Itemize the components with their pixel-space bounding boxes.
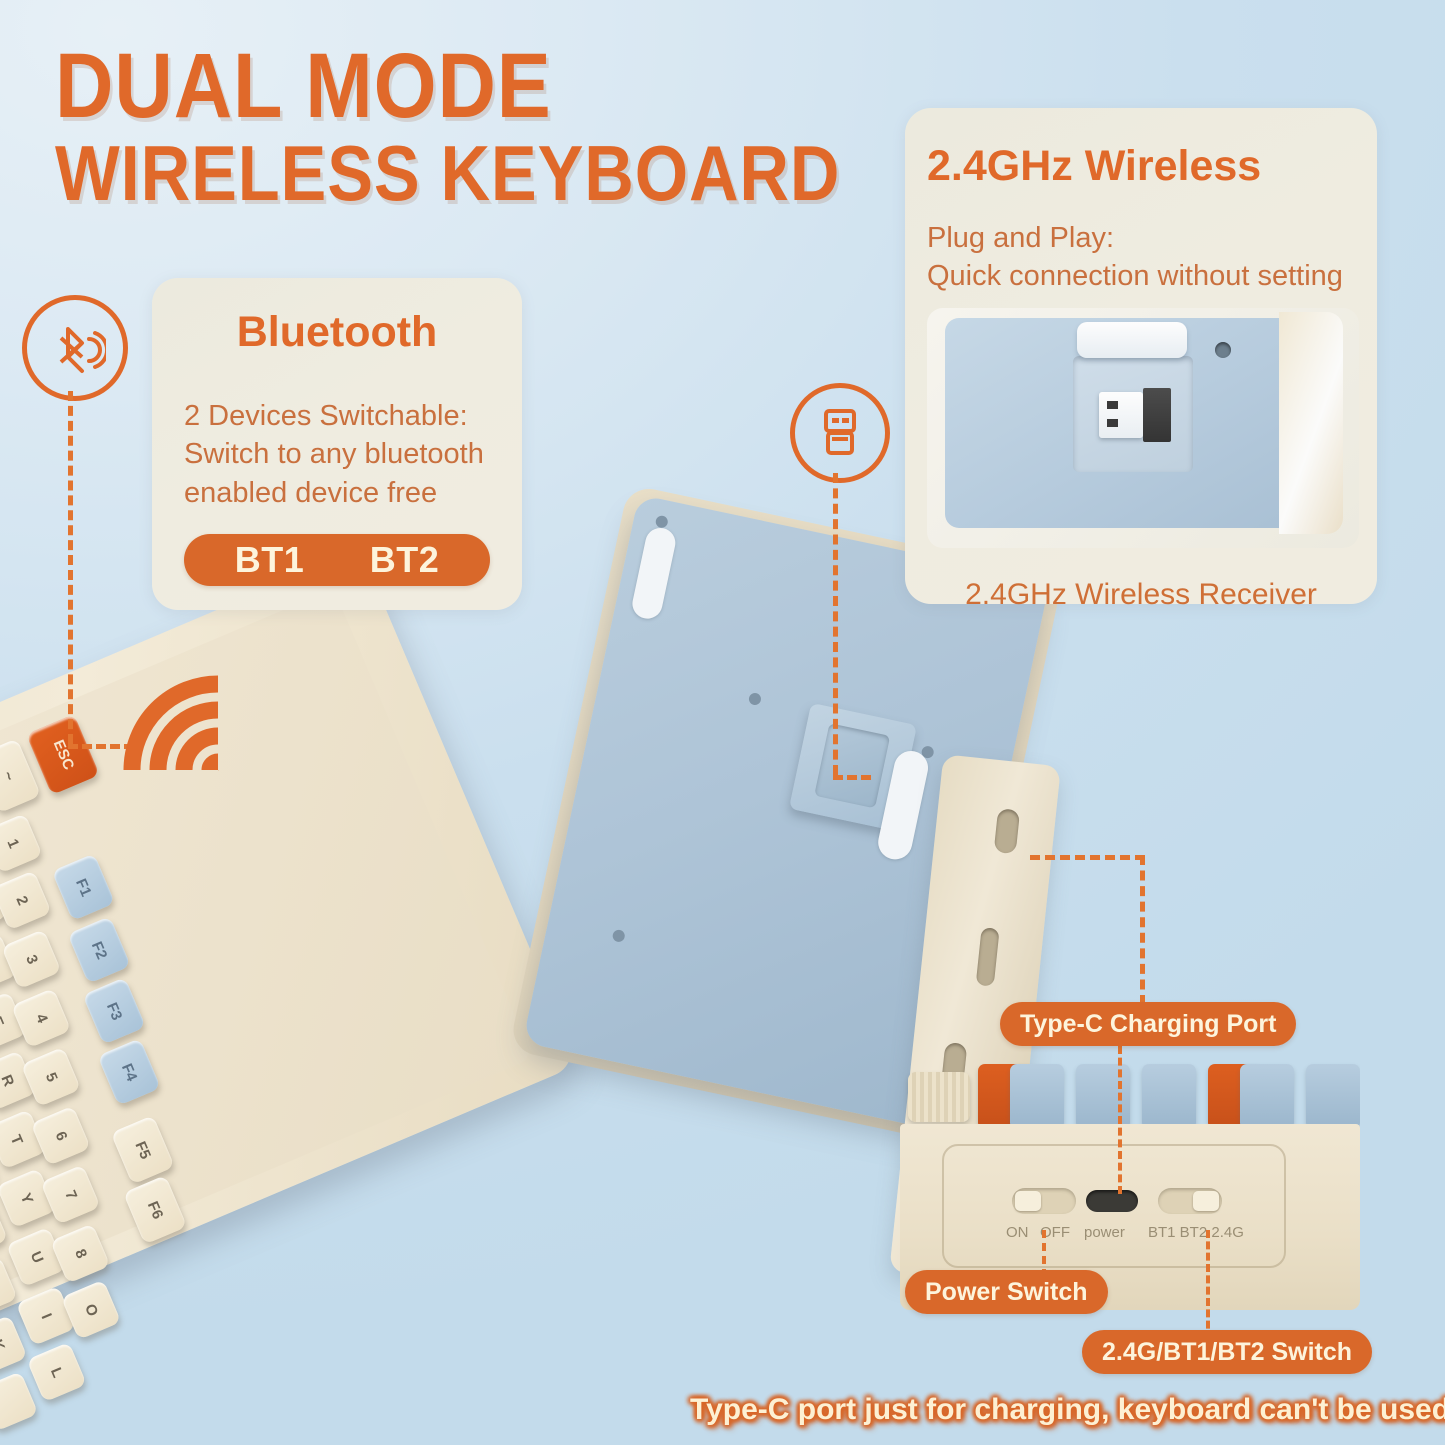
screw-hole-3 — [748, 692, 762, 706]
side-typec-port — [976, 927, 1000, 987]
side-switch-upper — [994, 808, 1020, 854]
bluetooth-card: Bluetooth 2 Devices Switchable: Switch t… — [152, 278, 522, 610]
power-switch-callout-label: Power Switch — [925, 1278, 1088, 1307]
type-c-callout[interactable]: Type-C Charging Port — [1000, 1002, 1296, 1046]
typec-line-horizontal — [1030, 855, 1145, 860]
screw-hole-receiver-photo — [1215, 342, 1231, 358]
wireless-receiver-photo — [927, 308, 1359, 548]
key-l: L — [27, 1342, 87, 1402]
mode-switch-callout-line — [1206, 1230, 1210, 1340]
usb-icon — [790, 383, 890, 483]
side-key-blue-3 — [1142, 1064, 1196, 1126]
bluetooth-icon — [22, 295, 128, 401]
bt2-label: BT2 — [370, 539, 440, 581]
key-period — [0, 1371, 38, 1431]
usb-dongle-body — [1143, 388, 1171, 442]
screw-hole-1 — [655, 515, 669, 529]
wireless-body-line-2: Quick connection without setting — [927, 257, 1377, 295]
wireless-card-body: Plug and Play: Quick connection without … — [927, 219, 1377, 296]
power-switch-callout[interactable]: Power Switch — [905, 1270, 1108, 1314]
receiver-compartment-flap — [1077, 322, 1187, 358]
page-title: DUAL MODE WIRELESS KEYBOARD — [55, 42, 955, 211]
infographic-canvas: DUAL MODE WIRELESS KEYBOARD CTRL SHIFT C… — [0, 0, 1445, 1445]
bluetooth-device-pill[interactable]: BT1 BT2 — [184, 534, 490, 586]
mode-switch-callout[interactable]: 2.4G/BT1/BT2 Switch — [1082, 1330, 1372, 1374]
wireless-card-title: 2.4GHz Wireless — [927, 142, 1377, 191]
wireless-body-line-1: Plug and Play: — [927, 219, 1377, 257]
side-key-blue-5 — [1306, 1064, 1360, 1126]
side-key-blue-1 — [1010, 1064, 1064, 1126]
bluetooth-body-line-2: Switch to any bluetooth — [184, 435, 522, 473]
side-view-keycap-row — [900, 1060, 1360, 1132]
screw-hole-4 — [612, 929, 626, 943]
typec-callout-line — [1118, 1046, 1122, 1194]
headline-line-1: DUAL MODE — [55, 42, 847, 130]
receiver-keyboard-edge — [1279, 312, 1343, 534]
mode-switch-control[interactable] — [1158, 1188, 1222, 1214]
usb-connector-line-vertical — [833, 473, 838, 775]
power-switch-control[interactable] — [1012, 1188, 1076, 1214]
bluetooth-card-title: Bluetooth — [152, 308, 522, 357]
rubber-foot-top-left — [630, 525, 678, 621]
wireless-card: 2.4GHz Wireless Plug and Play: Quick con… — [905, 108, 1377, 604]
bt1-label: BT1 — [235, 539, 305, 581]
usb-dongle-connector — [1099, 392, 1143, 438]
bluetooth-connector-line-vertical — [68, 391, 73, 744]
bottom-banner: Type-C port just for charging, keyboard … — [690, 1393, 1445, 1427]
type-c-port[interactable] — [1086, 1190, 1138, 1212]
bluetooth-body-line-3: enabled device free — [184, 474, 522, 512]
label-on: ON — [1006, 1224, 1029, 1241]
side-key-blue-4 — [1240, 1064, 1294, 1126]
wireless-receiver-caption: 2.4GHz Wireless Receiver — [905, 578, 1377, 612]
label-modes: BT1 BT2 2.4G — [1148, 1224, 1244, 1241]
usb-connector-line-horizontal — [833, 775, 871, 780]
typec-line-vertical — [1140, 855, 1145, 1005]
type-c-callout-label: Type-C Charging Port — [1020, 1010, 1276, 1039]
bluetooth-body-line-1: 2 Devices Switchable: — [184, 397, 522, 435]
key-o: O — [61, 1280, 121, 1340]
mode-switch-callout-label: 2.4G/BT1/BT2 Switch — [1102, 1338, 1352, 1367]
bluetooth-card-body: 2 Devices Switchable: Switch to any blue… — [184, 397, 522, 512]
headline-line-2: WIRELESS KEYBOARD — [55, 136, 847, 211]
volume-knob — [908, 1072, 970, 1122]
wifi-signal-icon — [120, 672, 230, 782]
label-power: power — [1084, 1224, 1125, 1241]
